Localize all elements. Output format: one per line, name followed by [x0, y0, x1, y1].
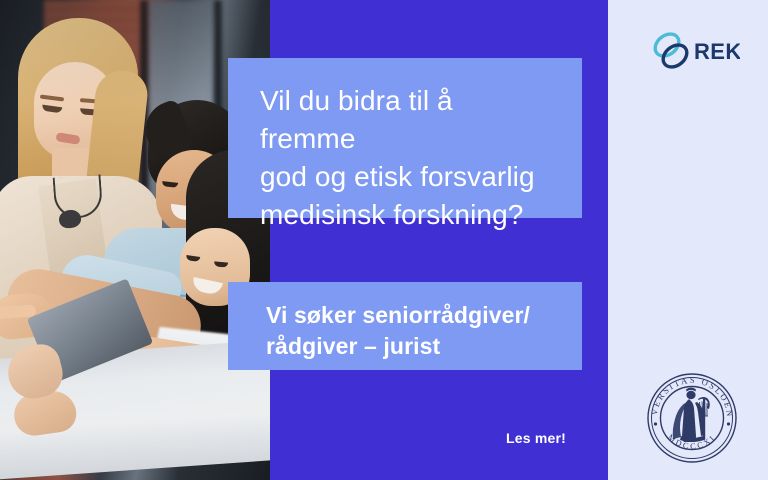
- recruitment-banner: Vil du bidra til å fremme god og etisk f…: [0, 0, 768, 480]
- read-more-link[interactable]: Les mer!: [506, 430, 566, 446]
- uio-seal: UNIVERSITAS OSLOENSIS MDCCCXI: [646, 372, 738, 464]
- rek-logo: REK: [648, 28, 740, 74]
- apollo-with-lyre-figure: [673, 388, 710, 442]
- rek-interlocking-rings-icon: [651, 30, 691, 72]
- role-text: Vi søker seniorrådgiver/ rådgiver – juri…: [266, 300, 560, 362]
- seal-dot-left: [654, 422, 657, 425]
- rek-wordmark: REK: [694, 39, 740, 64]
- seal-dot-right: [727, 422, 730, 425]
- headline-text: Vil du bidra til å fremme god og etisk f…: [260, 82, 556, 234]
- headline-callout-box: Vil du bidra til å fremme god og etisk f…: [228, 58, 582, 218]
- role-callout-box: Vi søker seniorrådgiver/ rådgiver – juri…: [228, 282, 582, 370]
